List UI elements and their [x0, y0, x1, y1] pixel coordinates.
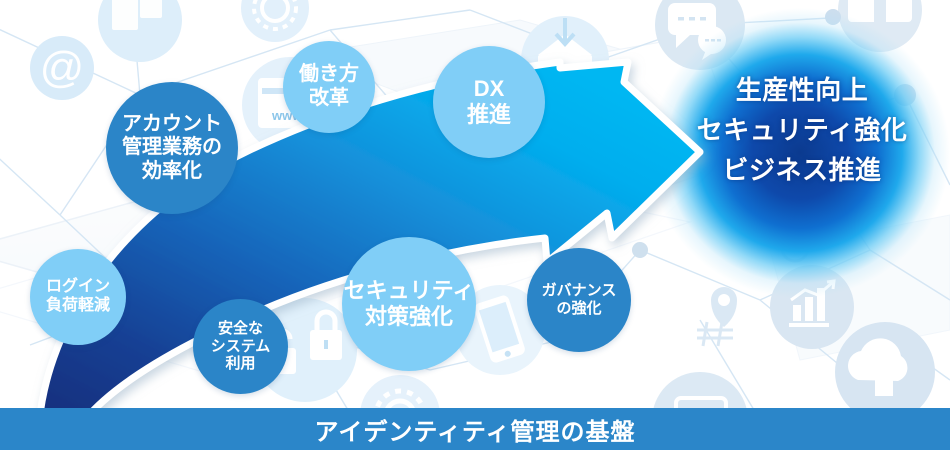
outcome-target: 生産性向上 セキュリティ強化 ビジネス推進: [663, 70, 941, 190]
bubble-label: セキュリティ対策強化: [344, 278, 475, 330]
bubble-label-line: ガバナンス: [542, 282, 617, 300]
bubble-label-line: 改革: [299, 87, 359, 111]
bubble-security-measure-strengthening: セキュリティ対策強化: [342, 237, 476, 371]
foundation-bar: アイデンティティ管理の基盤: [0, 408, 950, 450]
bubble-account-management-efficiency: アカウント管理業務の効率化: [106, 82, 238, 214]
outcome-line-3: ビジネス推進: [663, 150, 941, 190]
bubble-label: 安全なシステム利用: [211, 320, 271, 373]
bubble-safe-system-use: 安全なシステム利用: [193, 299, 288, 394]
bubble-label-line: ログイン: [46, 278, 110, 297]
bubble-dx-promotion: DX推進: [433, 46, 545, 158]
bubble-label-line: の強化: [542, 300, 617, 318]
outcome-line-1: 生産性向上: [663, 70, 941, 110]
outcome-line-2: セキュリティ強化: [663, 110, 941, 150]
bubble-label: ガバナンスの強化: [542, 282, 617, 317]
foundation-bar-label: アイデンティティ管理の基盤: [315, 412, 636, 447]
bubble-governance-strengthening: ガバナンスの強化: [527, 248, 631, 352]
bubble-label: アカウント管理業務の効率化: [122, 113, 222, 184]
bubble-label-line: 負荷軽減: [46, 297, 110, 316]
bubble-work-style-reform: 働き方改革: [283, 41, 375, 133]
bubble-label-line: 対策強化: [344, 304, 475, 330]
bubble-label-line: 利用: [211, 355, 271, 373]
bubble-label-line: システム: [211, 338, 271, 356]
bubble-label-line: 管理業務の: [122, 136, 222, 160]
bubble-label-line: セキュリティ: [344, 278, 475, 304]
bubble-label-line: 安全な: [211, 320, 271, 338]
bubble-label-line: 働き方: [299, 63, 359, 87]
bubble-label: 働き方改革: [299, 63, 359, 110]
bubble-label: DX推進: [467, 76, 511, 128]
bubble-label-line: DX: [467, 76, 511, 102]
bubble-label-line: 効率化: [122, 160, 222, 184]
bubble-label-line: アカウント: [122, 113, 222, 137]
infographic-canvas: @ www: [0, 0, 950, 450]
bubble-label-line: 推進: [467, 102, 511, 128]
bubble-label: ログイン負荷軽減: [46, 278, 110, 316]
bubble-login-burden-reduction: ログイン負荷軽減: [30, 249, 126, 345]
